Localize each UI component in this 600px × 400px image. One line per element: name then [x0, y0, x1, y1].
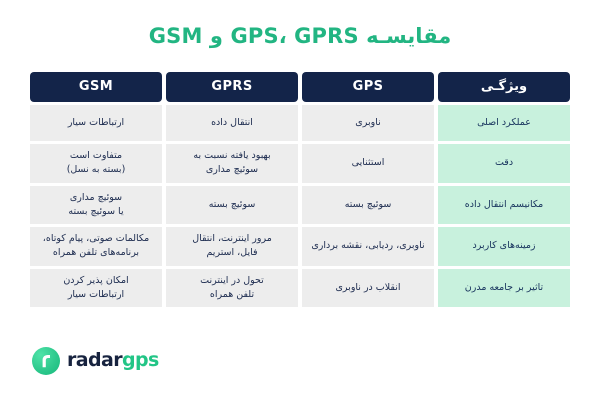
table-row: دقت استثنایی بهبود یافته نسبت به سوئیچ م… [30, 144, 570, 183]
cell-gps: استثنایی [302, 144, 434, 183]
cell-feature: دقت [438, 144, 570, 183]
cell-gprs-text: انتقال داده [211, 116, 253, 130]
cell-gsm-text: سوئیچ مداری یا سوئیچ بسته [68, 191, 123, 220]
page-title: مقایسـه GPS، GPRS و GSM [149, 24, 452, 48]
cell-gprs-text: سوئیچ بسته [209, 198, 256, 212]
cell-gprs: انتقال داده [166, 105, 298, 141]
brand-logo-text: radargps [67, 351, 159, 370]
cell-gsm-text: متفاوت است (بسته به نسل) [67, 149, 126, 178]
cell-gps-text: استثنایی [352, 156, 385, 170]
brand-word-primary: radar [67, 349, 122, 371]
column-header-gsm-label: GSM [79, 77, 113, 97]
cell-feature: مکانیسم انتقال داده [438, 186, 570, 225]
cell-feature-text: عملکرد اصلی [477, 116, 531, 130]
column-header-feature-label: ویژگـی [481, 77, 527, 97]
cell-gsm: امکان پذیر کردن ارتباطات سیار [30, 269, 162, 308]
cell-gps-text: سوئیچ بسته [345, 198, 392, 212]
table-header-row: ویژگـی GPS GPRS GSM [30, 72, 570, 102]
cell-feature-text: دقت [495, 156, 513, 170]
comparison-table: ویژگـی GPS GPRS GSM عملکرد اصلی ناوبری ا… [30, 72, 570, 307]
table-row: زمینه‌های کاربرد ناوبری، ردیابی، نقشه بر… [30, 227, 570, 266]
column-header-gsm: GSM [30, 72, 162, 102]
cell-gsm: متفاوت است (بسته به نسل) [30, 144, 162, 183]
radar-r-mark-icon [32, 347, 60, 375]
table-row: تاثیر بر جامعه مدرن انقلاب در ناوبری تحو… [30, 269, 570, 308]
cell-gsm: مکالمات صوتی، پیام کوتاه، برنامه‌های تلف… [30, 227, 162, 266]
cell-gprs-text: مرور اینترنت، انتقال فایل، استریم [192, 232, 272, 261]
cell-gprs-text: تحول در اینترنت تلفن همراه [200, 274, 264, 303]
column-header-feature: ویژگـی [438, 72, 570, 102]
column-header-gprs-label: GPRS [211, 77, 252, 97]
cell-gsm-text: امکان پذیر کردن ارتباطات سیار [63, 274, 128, 303]
cell-feature: عملکرد اصلی [438, 105, 570, 141]
cell-gprs: مرور اینترنت، انتقال فایل، استریم [166, 227, 298, 266]
cell-gsm-text: مکالمات صوتی، پیام کوتاه، برنامه‌های تلف… [43, 232, 149, 261]
table-row: مکانیسم انتقال داده سوئیچ بسته سوئیچ بست… [30, 186, 570, 225]
cell-gps-text: ناوبری [355, 116, 380, 130]
infographic-page: مقایسـه GPS، GPRS و GSM ویژگـی GPS GPRS … [0, 0, 600, 400]
cell-gps-text: ناوبری، ردیابی، نقشه برداری [311, 239, 424, 253]
brand-word-accent: gps [122, 349, 159, 371]
table-row: عملکرد اصلی ناوبری انتقال داده ارتباطات … [30, 105, 570, 141]
cell-gsm-text: ارتباطات سیار [68, 116, 124, 130]
cell-feature-text: تاثیر بر جامعه مدرن [465, 281, 543, 295]
footer: radargps [0, 321, 600, 400]
cell-feature: تاثیر بر جامعه مدرن [438, 269, 570, 308]
cell-gsm: ارتباطات سیار [30, 105, 162, 141]
cell-gprs: تحول در اینترنت تلفن همراه [166, 269, 298, 308]
page-title-container: مقایسـه GPS، GPRS و GSM [0, 0, 600, 72]
column-header-gps-label: GPS [353, 77, 384, 97]
cell-gsm: سوئیچ مداری یا سوئیچ بسته [30, 186, 162, 225]
brand-logo[interactable]: radargps [32, 347, 159, 375]
cell-gps: ناوبری [302, 105, 434, 141]
cell-gps-text: انقلاب در ناوبری [336, 281, 401, 295]
column-header-gprs: GPRS [166, 72, 298, 102]
cell-gps: ناوبری، ردیابی، نقشه برداری [302, 227, 434, 266]
cell-gprs-text: بهبود یافته نسبت به سوئیچ مداری [193, 149, 270, 178]
cell-gps: سوئیچ بسته [302, 186, 434, 225]
column-header-gps: GPS [302, 72, 434, 102]
cell-gprs: بهبود یافته نسبت به سوئیچ مداری [166, 144, 298, 183]
cell-gprs: سوئیچ بسته [166, 186, 298, 225]
cell-feature-text: مکانیسم انتقال داده [465, 198, 543, 212]
cell-feature-text: زمینه‌های کاربرد [473, 239, 536, 253]
cell-feature: زمینه‌های کاربرد [438, 227, 570, 266]
cell-gps: انقلاب در ناوبری [302, 269, 434, 308]
